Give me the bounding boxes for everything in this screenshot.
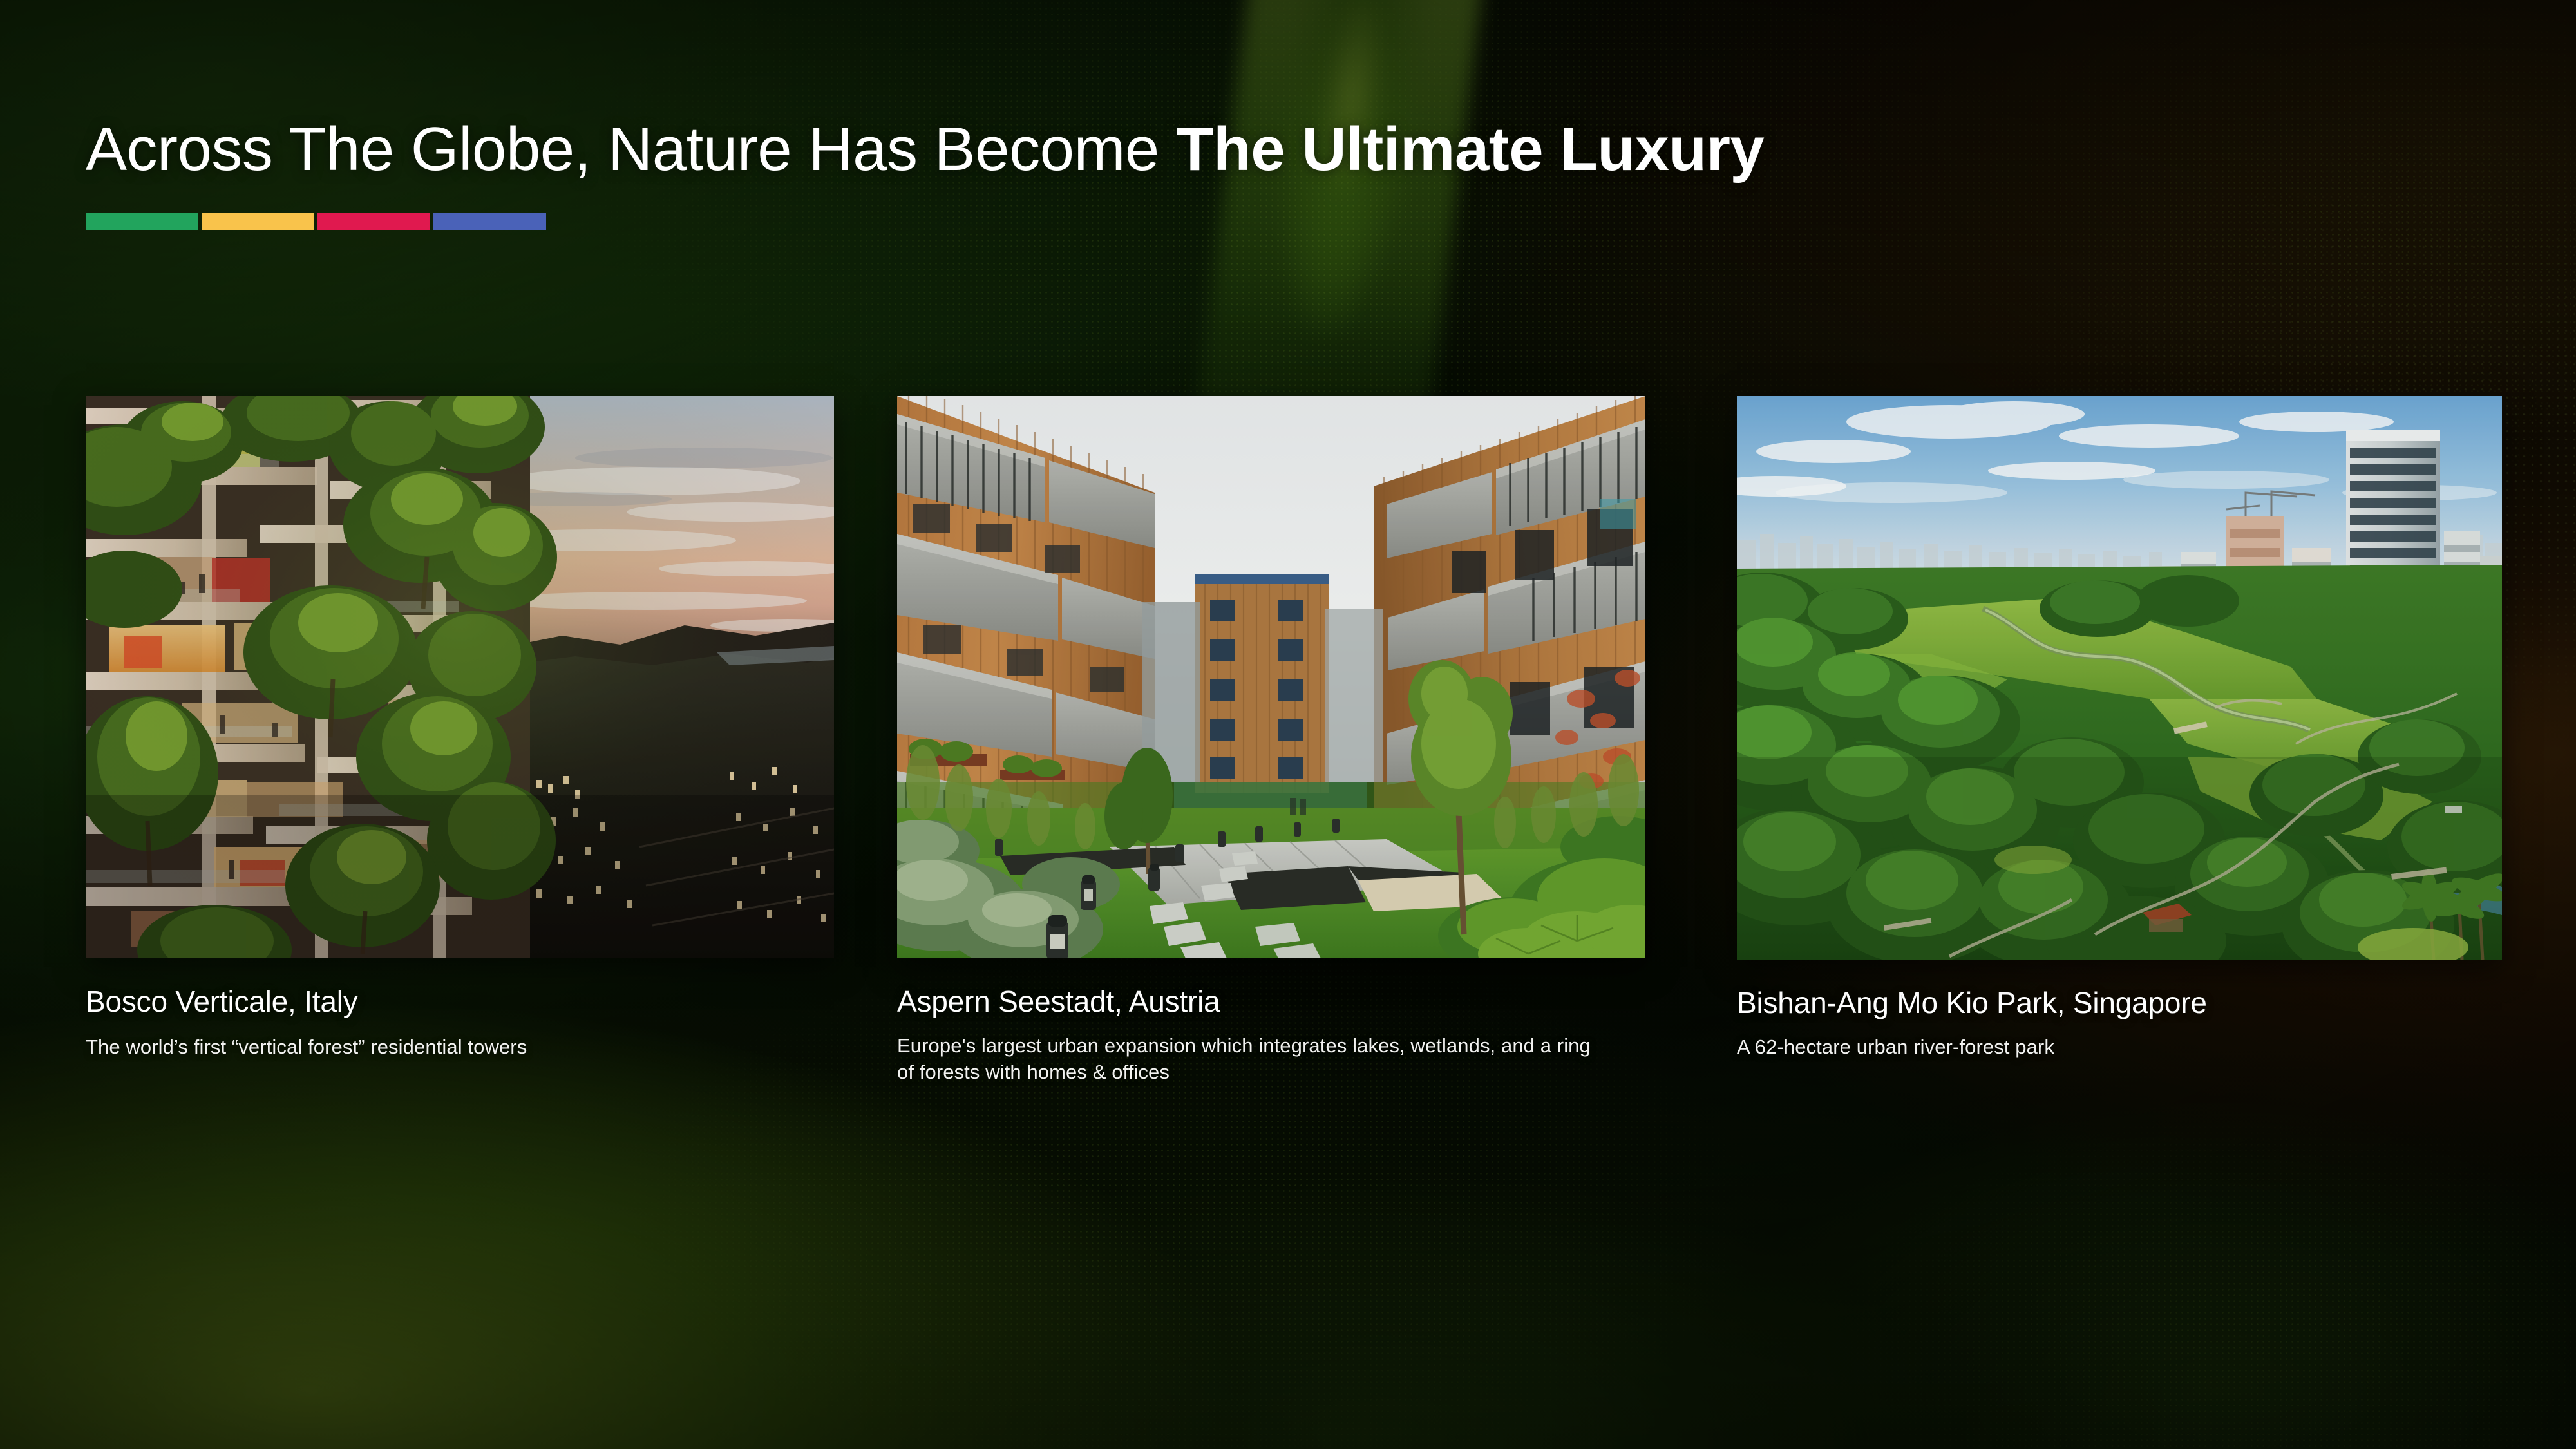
page-title: Across The Globe, Nature Has Become The … (86, 116, 1764, 183)
card-bishan-ang-mo-kio-park[interactable]: Bishan-Ang Mo Kio Park, Singapore A 62-h… (1737, 396, 2502, 1061)
card-description-bishan-ang-mo-kio-park: A 62-hectare urban river-forest park (1737, 1034, 2502, 1061)
slide-content: Across The Globe, Nature Has Become The … (0, 0, 2576, 1449)
card-image-aspern-seestadt (897, 396, 1645, 958)
accent-segment-amber (202, 213, 314, 230)
accent-bar (86, 213, 546, 230)
slide-root: Across The Globe, Nature Has Become The … (0, 0, 2576, 1449)
accent-segment-green (86, 213, 198, 230)
card-image-bosco-verticale (86, 396, 834, 958)
page-title-lead: Across The Globe, Nature Has Become (86, 115, 1176, 184)
card-description-bosco-verticale: The world’s first “vertical forest” resi… (86, 1034, 834, 1061)
card-bosco-verticale[interactable]: Bosco Verticale, Italy The world’s first… (86, 396, 834, 1061)
card-description-aspern-seestadt: Europe's largest urban expansion which i… (897, 1033, 1593, 1086)
page-title-emphasis: The Ultimate Luxury (1176, 115, 1764, 184)
card-title-bishan-ang-mo-kio-park: Bishan-Ang Mo Kio Park, Singapore (1737, 985, 2502, 1020)
accent-segment-blue (433, 213, 546, 230)
card-title-bosco-verticale: Bosco Verticale, Italy (86, 984, 834, 1019)
card-title-aspern-seestadt: Aspern Seestadt, Austria (897, 984, 1645, 1019)
accent-segment-crimson (317, 213, 430, 230)
card-image-bishan-ang-mo-kio-park (1737, 396, 2502, 960)
card-aspern-seestadt[interactable]: Aspern Seestadt, Austria Europe's larges… (897, 396, 1645, 1086)
